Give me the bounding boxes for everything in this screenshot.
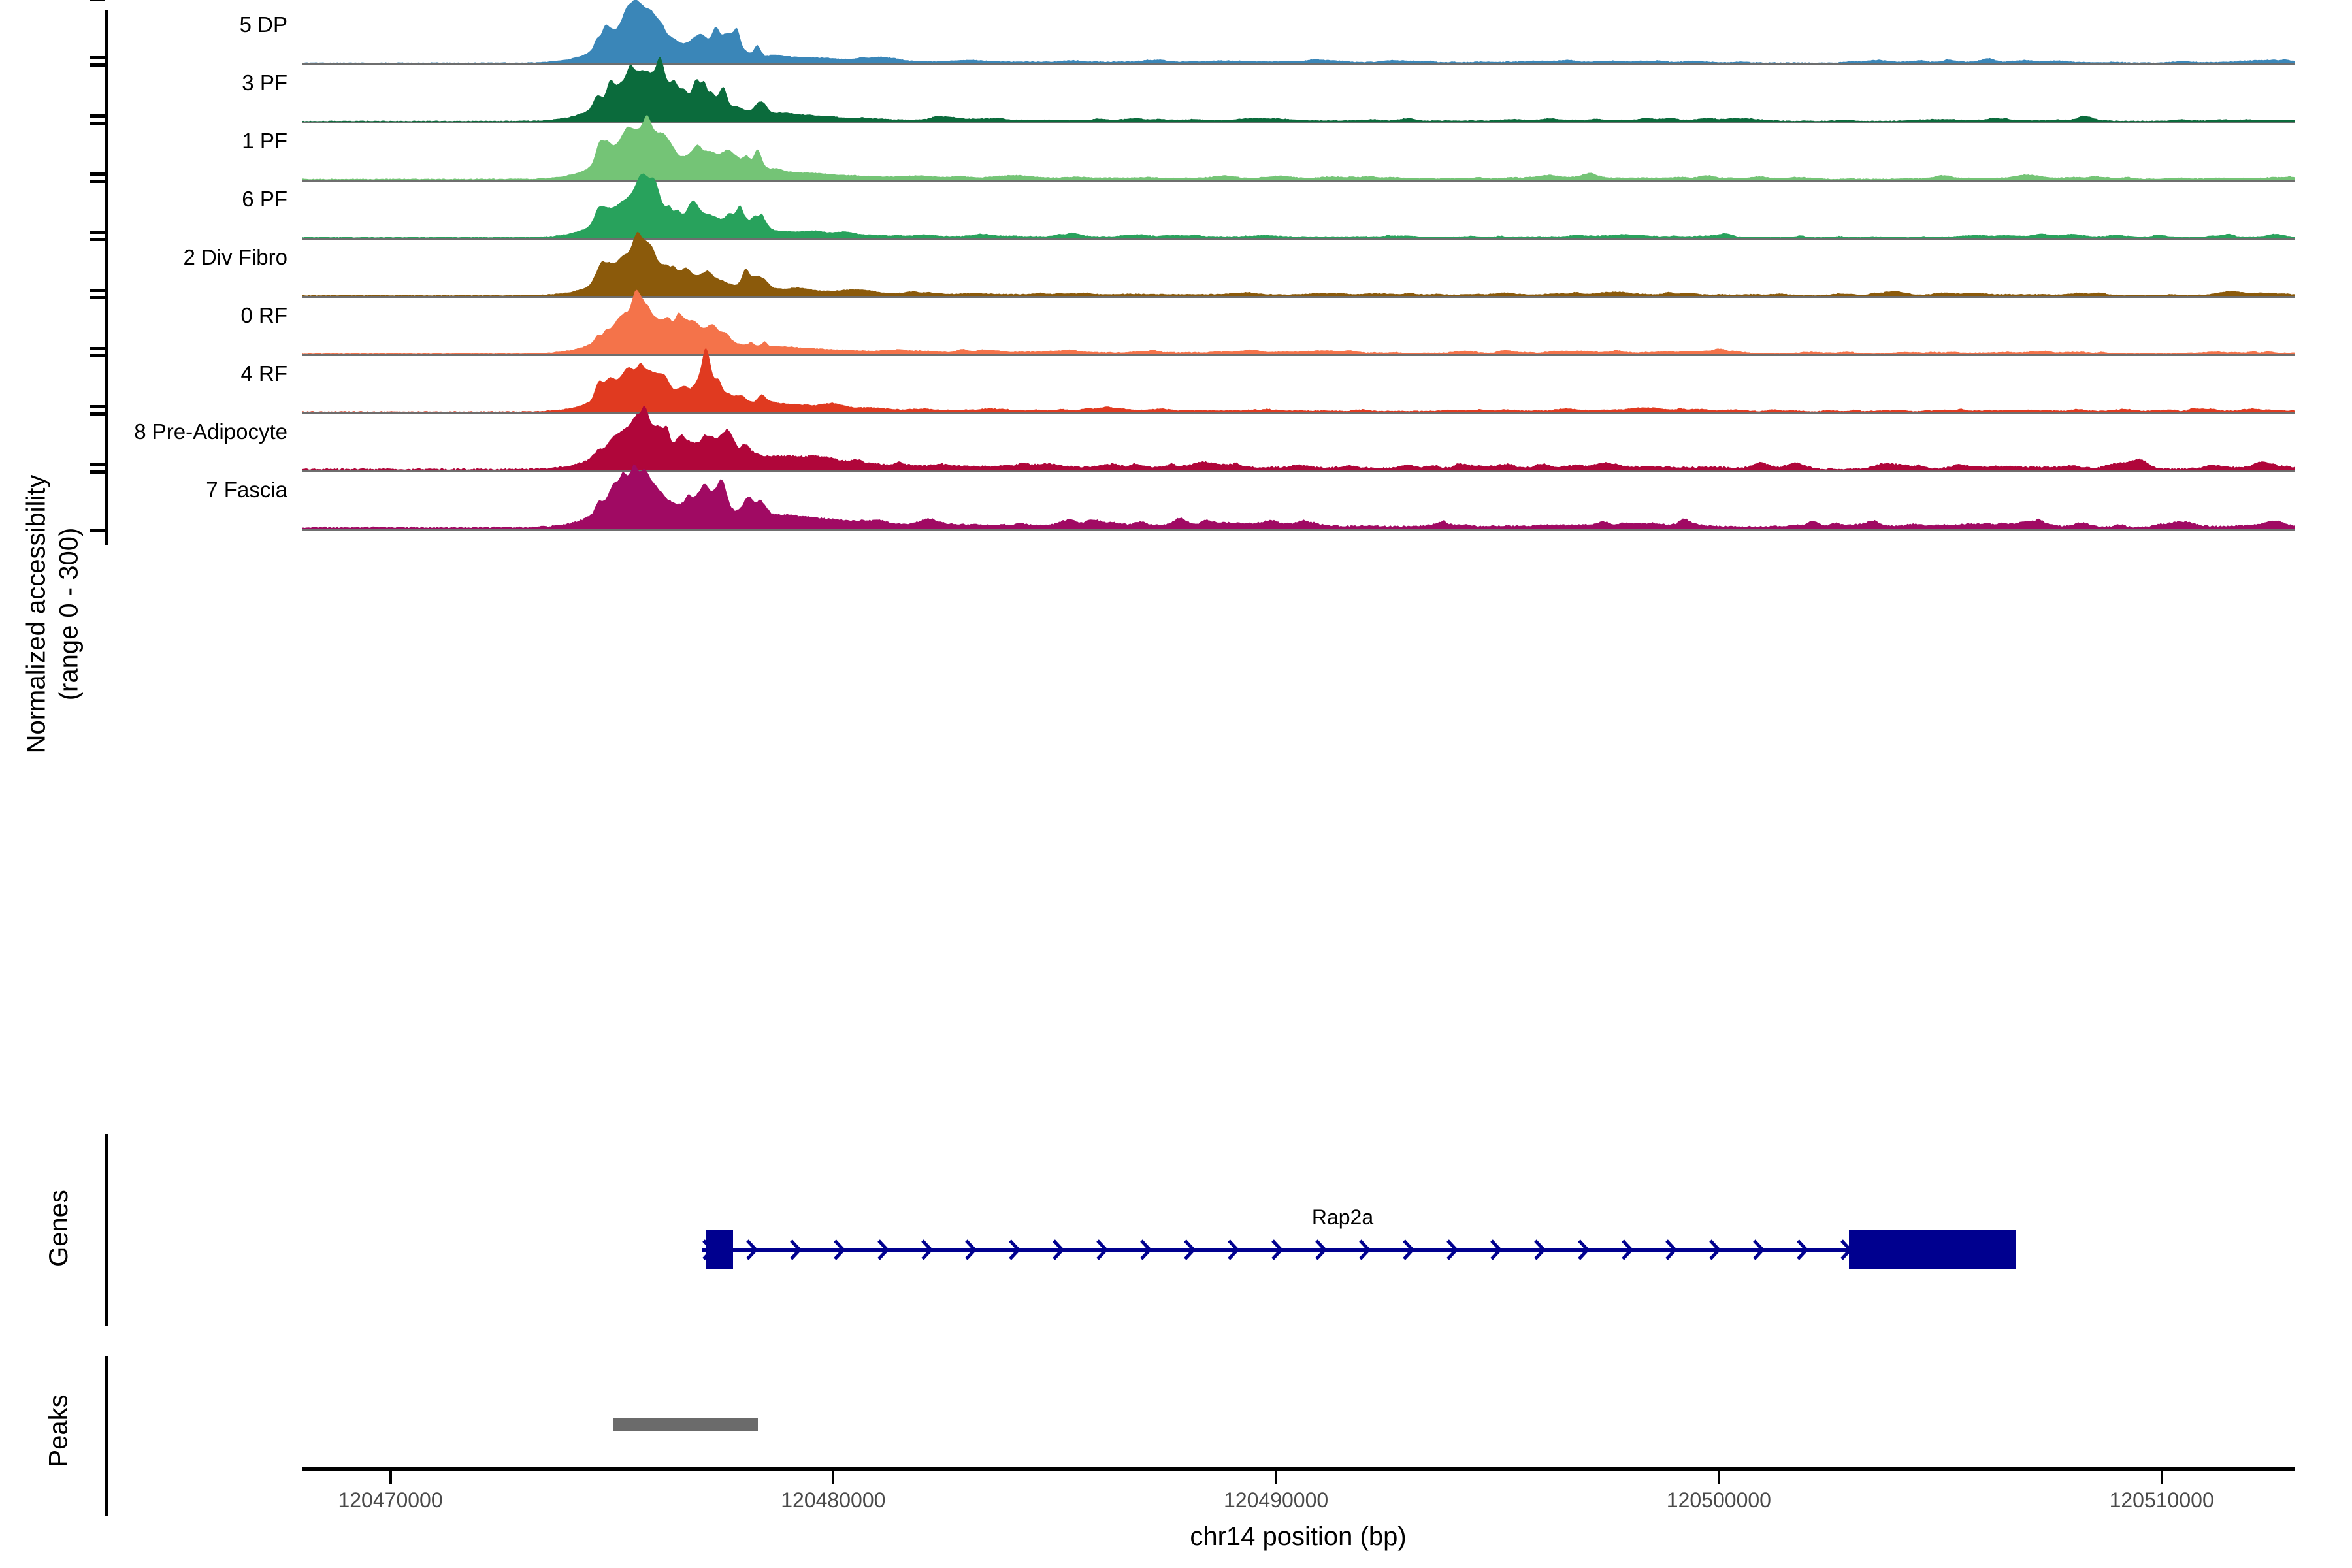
signal-area	[302, 290, 2295, 355]
strand-arrow-icon	[791, 1241, 800, 1259]
track-signal-1-pf	[302, 114, 2295, 180]
gene-exon-box	[706, 1230, 733, 1269]
y-axis-tick	[90, 412, 105, 416]
y-axis-tick	[90, 354, 105, 357]
track-signal-4-rf	[302, 347, 2295, 412]
axis-spine	[105, 10, 108, 545]
track-signal-6-pf	[302, 172, 2295, 238]
y-axis-label: Normalized accessibility (range 0 - 300)	[13, 366, 91, 862]
axis-spine	[105, 1356, 108, 1516]
x-axis-tick-label: 120500000	[1667, 1488, 1771, 1512]
signal-area	[302, 348, 2295, 413]
strand-arrow-icon	[1010, 1241, 1019, 1259]
y-axis-tick	[90, 405, 105, 408]
gene-strand-arrows	[702, 1235, 2016, 1265]
signal-area	[302, 406, 2295, 471]
y-axis-tick	[90, 114, 105, 118]
signal-area	[302, 57, 2295, 122]
y-axis-tick	[90, 122, 105, 125]
genome-browser-figure: Normalized accessibility (range 0 - 300)…	[0, 0, 2352, 1568]
signal-area	[302, 116, 2295, 180]
y-axis-tick	[90, 463, 105, 466]
strand-arrow-icon	[1273, 1241, 1281, 1259]
y-axis-tick	[90, 172, 105, 176]
strand-arrow-icon	[923, 1241, 931, 1259]
strand-arrow-icon	[1098, 1241, 1106, 1259]
y-axis-tick	[90, 231, 105, 234]
track-signal-3-pf	[302, 56, 2295, 122]
gene-name-label: Rap2a	[1312, 1205, 1373, 1230]
signal-area	[302, 174, 2295, 238]
signal-area	[302, 465, 2295, 529]
x-axis-tick	[2161, 1471, 2163, 1484]
genes-row-label: Genes	[26, 1130, 91, 1326]
x-axis-tick	[832, 1471, 834, 1484]
track-signal-2-div-fibro	[302, 231, 2295, 296]
y-axis-tick	[90, 289, 105, 292]
x-axis-tick	[1718, 1471, 1720, 1484]
strand-arrow-icon	[966, 1241, 975, 1259]
strand-arrow-icon	[1054, 1241, 1062, 1259]
strand-arrow-icon	[1404, 1241, 1413, 1259]
strand-arrow-icon	[1798, 1241, 1806, 1259]
track-signal-5-dp	[302, 0, 2295, 63]
track-baseline	[302, 529, 2295, 531]
y-axis-tick	[90, 296, 105, 299]
y-axis-label-line2: (range 0 - 300)	[52, 475, 85, 754]
strand-arrow-icon	[1360, 1241, 1369, 1259]
track-signal-8-pre-adipocyte	[302, 405, 2295, 470]
gene-exon-box	[1849, 1230, 2016, 1269]
strand-arrow-icon	[1448, 1241, 1456, 1259]
strand-arrow-icon	[747, 1241, 756, 1259]
strand-arrow-icon	[1492, 1241, 1500, 1259]
track-label-6-pf: 6 PF	[91, 187, 287, 212]
strand-arrow-icon	[1229, 1241, 1237, 1259]
x-axis-tick-label: 120490000	[1224, 1488, 1328, 1512]
track-label-2-div-fibro: 2 Div Fibro	[91, 245, 287, 270]
strand-arrow-icon	[1754, 1241, 1763, 1259]
peak-region-bar	[613, 1418, 758, 1431]
y-axis-tick	[90, 238, 105, 241]
signal-area	[302, 0, 2295, 63]
track-signal-0-rf	[302, 289, 2295, 354]
y-axis-tick	[90, 529, 105, 532]
strand-arrow-icon	[1535, 1241, 1544, 1259]
x-axis-title: chr14 position (bp)	[1190, 1522, 1406, 1552]
strand-arrow-icon	[1710, 1241, 1719, 1259]
strand-arrow-icon	[1141, 1241, 1150, 1259]
strand-arrow-icon	[835, 1241, 843, 1259]
track-label-5-dp: 5 DP	[91, 12, 287, 37]
y-axis-tick	[90, 63, 105, 67]
track-label-7-fascia: 7 Fascia	[91, 478, 287, 502]
x-axis-line	[302, 1467, 2295, 1471]
y-axis-tick	[90, 56, 105, 59]
y-axis-tick	[90, 180, 105, 183]
strand-arrow-icon	[1185, 1241, 1194, 1259]
x-axis-tick	[389, 1471, 392, 1484]
x-axis-tick	[1275, 1471, 1277, 1484]
strand-arrow-icon	[1579, 1241, 1588, 1259]
y-axis-tick	[90, 347, 105, 350]
x-axis-tick-label: 120480000	[781, 1488, 885, 1512]
strand-arrow-icon	[1667, 1241, 1675, 1259]
signal-area	[302, 232, 2295, 297]
track-label-4-rf: 4 RF	[91, 361, 287, 386]
y-axis-tick	[90, 0, 105, 1]
track-label-3-pf: 3 PF	[91, 71, 287, 95]
axis-spine	[105, 1134, 108, 1326]
y-axis-tick	[90, 470, 105, 474]
x-axis-tick-label: 120510000	[2110, 1488, 2214, 1512]
track-label-8-pre-adipocyte: 8 Pre-Adipocyte	[91, 419, 287, 444]
y-axis-label-line1: Normalized accessibility	[20, 475, 52, 754]
strand-arrow-icon	[1623, 1241, 1631, 1259]
strand-arrow-icon	[1316, 1241, 1325, 1259]
track-label-0-rf: 0 RF	[91, 303, 287, 328]
peaks-row-label: Peaks	[26, 1346, 91, 1516]
track-signal-7-fascia	[302, 463, 2295, 529]
strand-arrow-icon	[879, 1241, 887, 1259]
track-label-1-pf: 1 PF	[91, 129, 287, 154]
x-axis-tick-label: 120470000	[338, 1488, 442, 1512]
